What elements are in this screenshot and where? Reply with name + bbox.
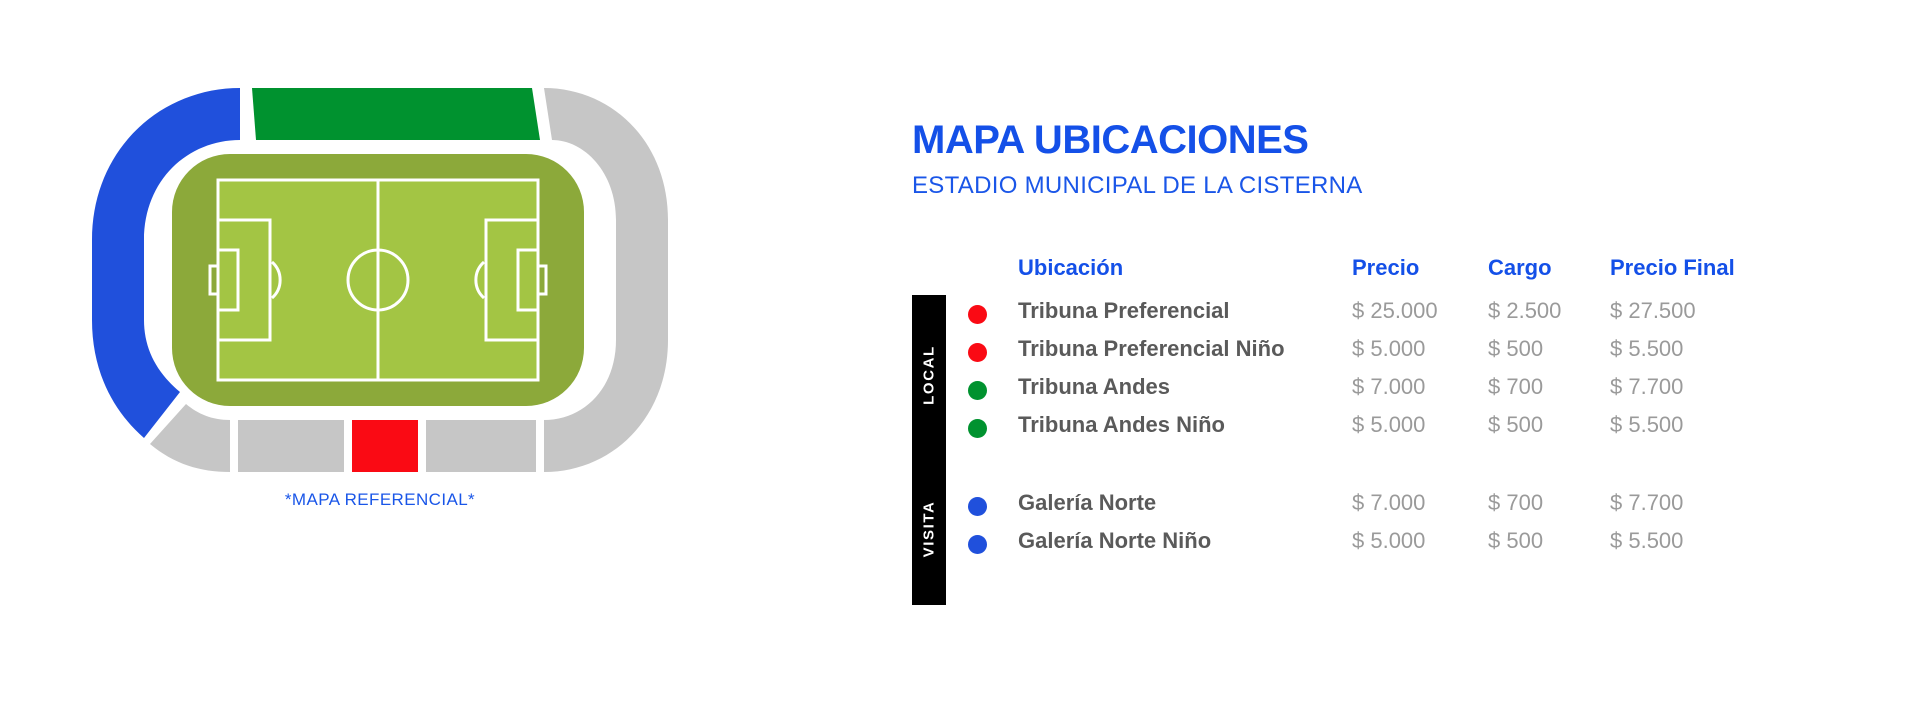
row-precio-final: $ 7.700 <box>1610 490 1683 516</box>
pricing-info-panel: MAPA UBICACIONES ESTADIO MUNICIPAL DE LA… <box>900 0 1920 720</box>
table-header-row: Ubicación Precio Cargo Precio Final <box>900 255 1920 295</box>
row-cargo: $ 2.500 <box>1488 298 1561 324</box>
stadium-map-panel: *MAPA REFERENCIAL* <box>0 70 880 610</box>
row-cargo: $ 700 <box>1488 490 1543 516</box>
row-cargo: $ 500 <box>1488 336 1543 362</box>
table-sections: LOCALTribuna Preferencial$ 25.000$ 2.500… <box>900 295 1920 563</box>
row-precio-final: $ 5.500 <box>1610 412 1683 438</box>
zone-color-dot-icon <box>968 497 987 516</box>
row-precio: $ 7.000 <box>1352 490 1425 516</box>
table-row[interactable]: Galería Norte Niño$ 5.000$ 500$ 5.500 <box>900 525 1920 563</box>
stadium-diagram[interactable] <box>40 80 720 480</box>
page-subtitle: ESTADIO MUNICIPAL DE LA CISTERNA <box>912 174 1363 198</box>
column-header-ubicacion: Ubicación <box>1018 255 1123 281</box>
section-rows: Tribuna Preferencial$ 25.000$ 2.500$ 27.… <box>900 295 1920 447</box>
zone-tribuna-andes[interactable] <box>252 88 540 140</box>
map-reference-caption: *MAPA REFERENCIAL* <box>40 490 720 510</box>
row-precio-final: $ 7.700 <box>1610 374 1683 400</box>
row-cargo: $ 500 <box>1488 412 1543 438</box>
row-precio-final: $ 5.500 <box>1610 336 1683 362</box>
price-table: Ubicación Precio Cargo Precio Final LOCA… <box>900 255 1920 563</box>
zone-sin-venta-bottom-2[interactable] <box>426 420 536 472</box>
zone-color-dot-icon <box>968 419 987 438</box>
title-block: MAPA UBICACIONES ESTADIO MUNICIPAL DE LA… <box>912 120 1363 198</box>
pitch <box>210 180 546 380</box>
column-header-cargo: Cargo <box>1488 255 1552 281</box>
row-cargo: $ 500 <box>1488 528 1543 554</box>
zone-color-dot-icon <box>968 305 987 324</box>
table-row[interactable]: Tribuna Andes Niño$ 5.000$ 500$ 5.500 <box>900 409 1920 447</box>
table-row[interactable]: Tribuna Andes$ 7.000$ 700$ 7.700 <box>900 371 1920 409</box>
column-header-precio-final: Precio Final <box>1610 255 1735 281</box>
row-ubicacion: Tribuna Andes Niño <box>1018 412 1225 438</box>
row-ubicacion: Galería Norte <box>1018 490 1156 516</box>
zone-sin-venta-bottom-1[interactable] <box>238 420 344 472</box>
table-section-local: LOCALTribuna Preferencial$ 25.000$ 2.500… <box>900 295 1920 447</box>
table-row[interactable]: Galería Norte$ 7.000$ 700$ 7.700 <box>900 487 1920 525</box>
page-title: MAPA UBICACIONES <box>912 120 1363 160</box>
row-precio-final: $ 5.500 <box>1610 528 1683 554</box>
row-precio: $ 25.000 <box>1352 298 1438 324</box>
zone-color-dot-icon <box>968 381 987 400</box>
row-ubicacion: Tribuna Andes <box>1018 374 1170 400</box>
section-rows: Galería Norte$ 7.000$ 700$ 7.700Galería … <box>900 487 1920 563</box>
section-spacer <box>900 447 1920 487</box>
row-precio: $ 5.000 <box>1352 412 1425 438</box>
zone-color-dot-icon <box>968 535 987 554</box>
zone-tribuna-preferencial[interactable] <box>352 420 418 472</box>
row-precio: $ 5.000 <box>1352 528 1425 554</box>
row-ubicacion: Tribuna Preferencial Niño <box>1018 336 1285 362</box>
seating-map-page: *MAPA REFERENCIAL* MAPA UBICACIONES ESTA… <box>0 0 1920 720</box>
row-precio-final: $ 27.500 <box>1610 298 1696 324</box>
row-ubicacion: Galería Norte Niño <box>1018 528 1211 554</box>
table-row[interactable]: Tribuna Preferencial Niño$ 5.000$ 500$ 5… <box>900 333 1920 371</box>
row-precio: $ 7.000 <box>1352 374 1425 400</box>
table-row[interactable]: Tribuna Preferencial$ 25.000$ 2.500$ 27.… <box>900 295 1920 333</box>
column-header-precio: Precio <box>1352 255 1419 281</box>
row-precio: $ 5.000 <box>1352 336 1425 362</box>
row-ubicacion: Tribuna Preferencial <box>1018 298 1230 324</box>
row-cargo: $ 700 <box>1488 374 1543 400</box>
zone-color-dot-icon <box>968 343 987 362</box>
table-section-visita: VISITAGalería Norte$ 7.000$ 700$ 7.700Ga… <box>900 487 1920 563</box>
